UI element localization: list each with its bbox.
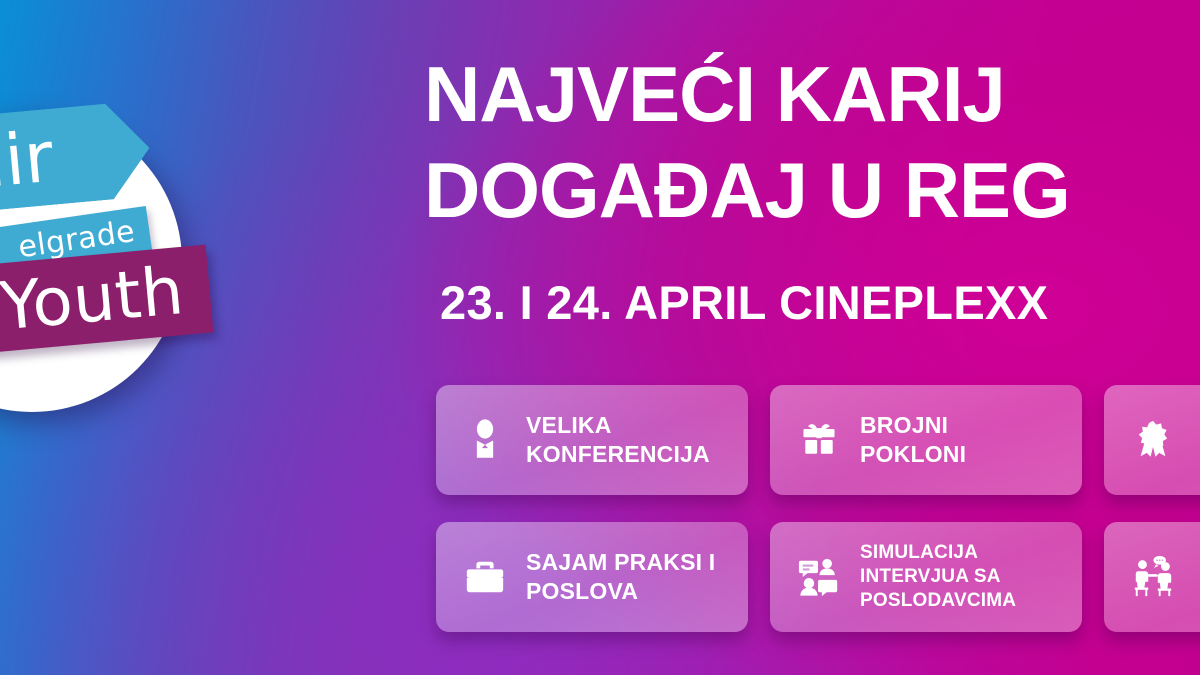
feature-card-label: VELIKA KONFERENCIJA bbox=[526, 411, 710, 469]
label-line: VELIKA bbox=[526, 412, 612, 438]
label-line: KONFERENCIJA bbox=[526, 441, 710, 467]
feature-card-label: SAJAM PRAKSI I POSLOVA bbox=[526, 548, 715, 606]
award-ribbon-icon bbox=[1130, 417, 1176, 463]
feature-card-simulacija-intervjua[interactable]: SIMULACIJA INTERVJUA SA POSLODAVCIMA bbox=[770, 522, 1082, 632]
label-line: POSLOVA bbox=[526, 578, 638, 604]
gift-box-icon bbox=[796, 417, 842, 463]
feature-card-velika-konferencija[interactable]: VELIKA KONFERENCIJA bbox=[436, 385, 748, 495]
feature-card-label: SIMULACIJA INTERVJUA SA POSLODAVCIMA bbox=[860, 541, 1016, 613]
feature-card-sajam-praksi-i-poslova[interactable]: SAJAM PRAKSI I POSLOVA bbox=[436, 522, 748, 632]
speaker-person-icon bbox=[462, 417, 508, 463]
headline-line-2: DOGAĐAJ U REG bbox=[424, 142, 1200, 238]
interview-people-icon bbox=[796, 554, 842, 600]
belgrade-youth-fair-logo: elgrade Youth Fair bbox=[0, 112, 212, 502]
label-line: SAJAM PRAKSI I bbox=[526, 549, 715, 575]
feature-cards: VELIKA KONFERENCIJA BROJNI POKLONI bbox=[436, 385, 1200, 632]
label-line: BROJNI bbox=[860, 412, 948, 438]
briefcase-icon bbox=[462, 554, 508, 600]
feature-card-networking[interactable] bbox=[1104, 522, 1200, 632]
feature-card-label: BROJNI POKLONI bbox=[860, 411, 966, 469]
feature-card-brojni-pokloni[interactable]: BROJNI POKLONI bbox=[770, 385, 1082, 495]
label-line: POKLONI bbox=[860, 441, 966, 467]
headline: NAJVEĆI KARIJ DOGAĐAJ U REG bbox=[424, 46, 1200, 238]
label-line: POSLODAVCIMA bbox=[860, 590, 1016, 611]
seated-meeting-icon bbox=[1130, 554, 1176, 600]
promo-banner: elgrade Youth Fair NAJVEĆI KARIJ DOGAĐAJ… bbox=[0, 0, 1200, 675]
headline-line-1: NAJVEĆI KARIJ bbox=[424, 46, 1200, 142]
label-line: SIMULACIJA bbox=[860, 542, 978, 563]
event-date-venue: 23. I 24. APRIL CINEPLEXX bbox=[440, 275, 1048, 331]
logo-text-fair: Fair bbox=[0, 113, 57, 212]
logo-band-youth: Youth bbox=[0, 245, 213, 356]
logo-text-youth: Youth bbox=[0, 258, 187, 340]
feature-card-nagrade[interactable] bbox=[1104, 385, 1200, 495]
label-line: INTERVJUA SA bbox=[860, 566, 1001, 587]
